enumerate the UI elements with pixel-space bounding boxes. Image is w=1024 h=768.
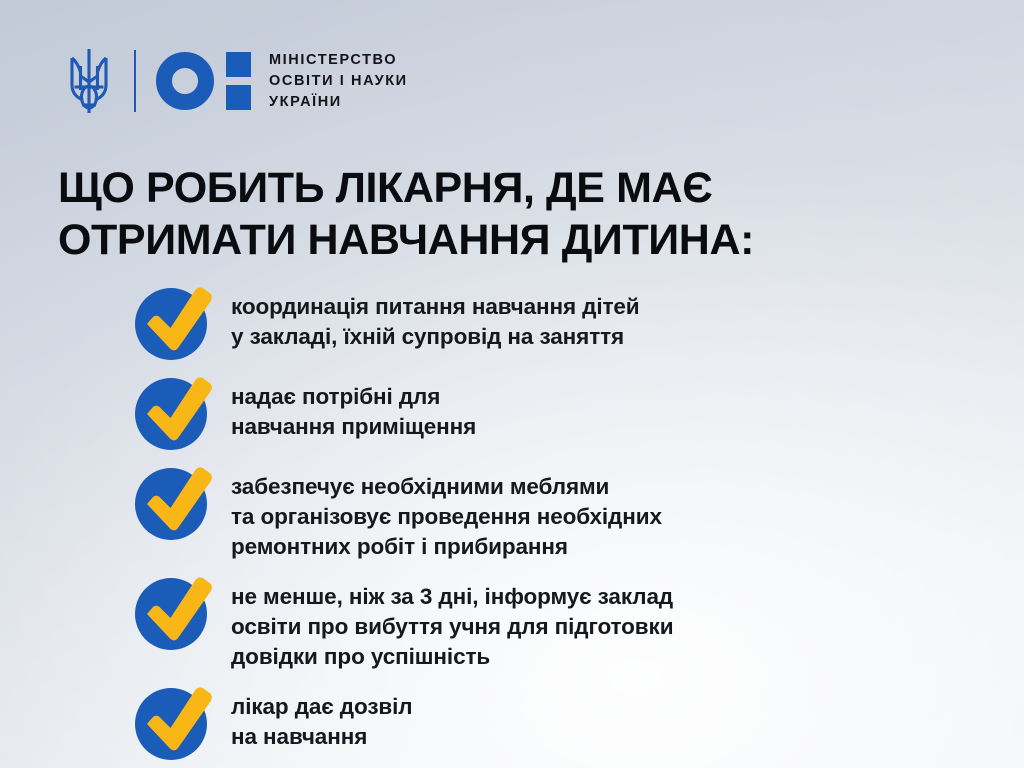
page-title-line-2: ОТРИМАТИ НАВЧАННЯ ДИТИНА: <box>58 214 898 266</box>
checklist: координація питання навчання дітей у зак… <box>133 284 993 768</box>
page-title-line-1: ЩО РОБИТЬ ЛІКАРНЯ, ДЕ МАЄ <box>58 162 898 214</box>
list-item-line: на навчання <box>231 722 412 752</box>
check-circle-icon <box>133 286 221 362</box>
list-item-line: координація питання навчання дітей <box>231 292 640 322</box>
mon-ring-shape <box>156 52 214 110</box>
list-item-line: не менше, ніж за 3 дні, інформує заклад <box>231 582 673 612</box>
list-item-text: координація питання навчання дітей у зак… <box>231 284 640 352</box>
list-item-text: забезпечує необхідними меблями та органі… <box>231 464 662 562</box>
check-circle-icon <box>133 576 221 652</box>
list-item: надає потрібні для навчання приміщення <box>133 374 993 452</box>
list-item-line: лікар дає дозвіл <box>231 692 412 722</box>
list-item: лікар дає дозвіл на навчання <box>133 684 993 762</box>
list-item-line: навчання приміщення <box>231 412 476 442</box>
ministry-logo-lockup: МІНІСТЕРСТВО ОСВІТИ І НАУКИ УКРАЇНИ <box>66 42 408 120</box>
list-item-text: не менше, ніж за 3 дні, інформує заклад … <box>231 574 673 672</box>
mon-square-top <box>226 52 251 77</box>
list-item-line: освіти про вибуття учня для підготовки <box>231 612 673 642</box>
list-item-line: надає потрібні для <box>231 382 476 412</box>
logo-divider <box>134 50 136 112</box>
list-item-line: у закладі, їхній супровід на заняття <box>231 322 640 352</box>
list-item-line: та організовує проведення необхідних <box>231 502 662 532</box>
list-item: забезпечує необхідними меблями та органі… <box>133 464 993 562</box>
check-circle-icon <box>133 376 221 452</box>
list-item-line: довідки про успішність <box>231 642 673 672</box>
ukrainian-trident-icon <box>66 45 112 117</box>
mon-o-mark-icon <box>156 52 251 110</box>
ministry-line-3: УКРАЇНИ <box>269 92 408 113</box>
list-item-line: забезпечує необхідними меблями <box>231 472 662 502</box>
list-item-line: ремонтних робіт і прибирання <box>231 532 662 562</box>
check-circle-icon <box>133 686 221 762</box>
mon-square-bottom <box>226 85 251 110</box>
ministry-name: МІНІСТЕРСТВО ОСВІТИ І НАУКИ УКРАЇНИ <box>269 45 408 117</box>
infographic-page: МІНІСТЕРСТВО ОСВІТИ І НАУКИ УКРАЇНИ ЩО Р… <box>0 0 1024 768</box>
list-item-text: надає потрібні для навчання приміщення <box>231 374 476 442</box>
ministry-line-2: ОСВІТИ І НАУКИ <box>269 71 408 92</box>
check-circle-icon <box>133 466 221 542</box>
list-item: координація питання навчання дітей у зак… <box>133 284 993 362</box>
page-title: ЩО РОБИТЬ ЛІКАРНЯ, ДЕ МАЄ ОТРИМАТИ НАВЧА… <box>58 162 898 266</box>
mon-squares-shape <box>226 52 251 110</box>
ministry-line-1: МІНІСТЕРСТВО <box>269 50 408 71</box>
list-item-text: лікар дає дозвіл на навчання <box>231 684 412 752</box>
list-item: не менше, ніж за 3 дні, інформує заклад … <box>133 574 993 672</box>
